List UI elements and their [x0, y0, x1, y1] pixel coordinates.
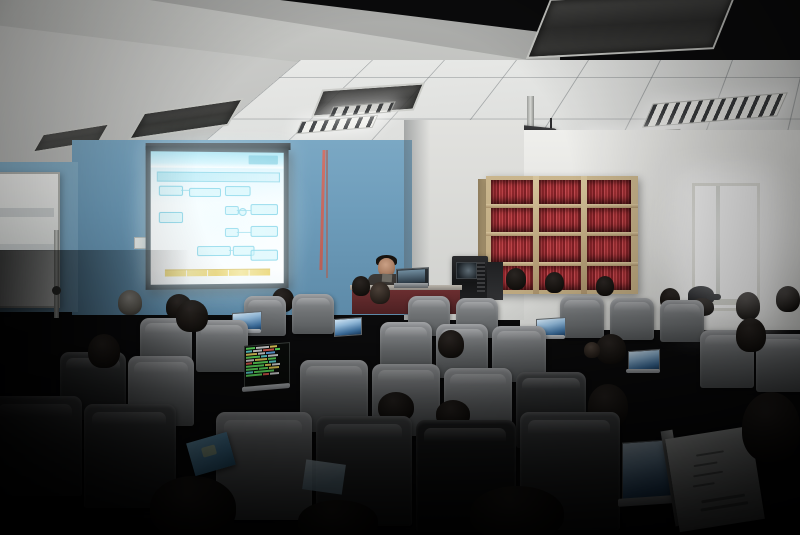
- bound-volumes: [491, 236, 533, 262]
- attendee-head: [545, 272, 564, 293]
- slide-box: [189, 188, 221, 197]
- attendee-head: [176, 300, 208, 332]
- shelf-upright: [581, 176, 587, 294]
- slide-connector: [229, 250, 234, 251]
- seat-headrest-band: [324, 424, 402, 438]
- whiteboard: [0, 172, 60, 308]
- attendee-head-foreground: [150, 476, 236, 535]
- bound-volumes: [491, 180, 533, 204]
- slide-footer-divider: [207, 270, 208, 276]
- seat[interactable]: [292, 294, 334, 334]
- slide-box: [225, 186, 251, 196]
- attendee-head: [370, 282, 390, 304]
- seat-headrest-band: [378, 370, 434, 381]
- seat-headrest-band: [248, 300, 282, 308]
- shelf-cell: [539, 180, 581, 204]
- pc-tower-icon: [487, 262, 503, 300]
- attendee-head-foreground: [470, 486, 564, 535]
- shelf-upright: [533, 176, 539, 294]
- handout-text-line: [696, 450, 724, 456]
- bound-volumes: [587, 236, 631, 262]
- slide-connector: [237, 232, 251, 233]
- bound-volumes: [587, 208, 631, 232]
- shelf-cell: [587, 236, 631, 262]
- shelf-board: [486, 204, 638, 208]
- seat-headrest-band: [296, 298, 330, 306]
- red-cable-shadow: [326, 150, 328, 278]
- shelf-cell: [539, 208, 581, 232]
- whiteboard-stand-knob: [52, 286, 61, 295]
- air-vent-icon: [526, 0, 738, 59]
- slide-box: [159, 212, 183, 223]
- seat-headrest-band: [306, 366, 362, 377]
- shelf-cell: [587, 180, 631, 204]
- attendee-head: [736, 318, 766, 352]
- bound-volumes: [539, 208, 581, 232]
- seat-headrest-band: [92, 412, 166, 425]
- presenter-collar: [382, 274, 393, 283]
- bound-volumes: [539, 236, 581, 262]
- slide-box: [197, 246, 231, 256]
- shelf-cell: [587, 208, 631, 232]
- slide-footer-divider: [186, 270, 187, 276]
- slide-connector: [237, 210, 251, 211]
- shelf-cell: [491, 236, 533, 262]
- attendee-head-foreground: [742, 392, 800, 462]
- conference-room-photo: [0, 0, 800, 535]
- presenter-laptop-base: [394, 283, 428, 288]
- whiteboard-stand-pole: [54, 230, 59, 318]
- attendee-head: [736, 292, 760, 320]
- seat-headrest-band: [497, 331, 541, 341]
- attendee-face: [584, 342, 600, 358]
- attendee-head: [438, 330, 464, 358]
- av-monitor-icon: [456, 262, 477, 279]
- projected-slide: [151, 151, 284, 285]
- shelf-board: [486, 262, 638, 266]
- shelf-cell: [491, 180, 533, 204]
- seat-headrest-band: [564, 300, 600, 309]
- seat-headrest-band: [412, 300, 446, 308]
- handout-text-line: [700, 501, 748, 511]
- seat-headrest-band: [460, 302, 494, 310]
- attendee-head: [88, 334, 120, 368]
- slide-logo: [249, 155, 278, 164]
- seat[interactable]: [610, 298, 654, 340]
- whiteboard-smudge: [0, 208, 54, 217]
- slide-footer-divider: [228, 270, 229, 276]
- seat-headrest-band: [664, 304, 700, 313]
- laptop-base: [626, 369, 660, 373]
- attendee-head: [118, 290, 142, 315]
- seat[interactable]: [560, 296, 604, 338]
- bound-volumes: [539, 180, 581, 204]
- seat-headrest-band: [385, 327, 427, 337]
- seat-headrest-band: [224, 420, 302, 434]
- slide-footer-band: [165, 269, 270, 277]
- shelf-cell: [539, 236, 581, 262]
- seat-headrest-band: [522, 378, 580, 389]
- seat-headrest-band: [0, 404, 72, 417]
- slide-footer-divider: [249, 270, 250, 276]
- attendee-head: [596, 276, 614, 296]
- slide-box: [251, 226, 278, 237]
- attendee-head: [506, 268, 526, 290]
- seat-headrest-band: [424, 428, 506, 442]
- whiteboard-smudge: [0, 244, 54, 251]
- seat-headrest-band: [528, 420, 610, 434]
- handout-text-line: [693, 471, 723, 478]
- window-mullion: [716, 186, 720, 302]
- seat-headrest-band: [201, 325, 243, 335]
- seat-headrest-band: [614, 302, 650, 311]
- seat[interactable]: [0, 396, 82, 496]
- seat-headrest-band: [134, 362, 188, 373]
- seat-headrest-band: [450, 374, 506, 385]
- attendee-head: [352, 276, 370, 296]
- seat[interactable]: [660, 300, 704, 342]
- seat-headrest-band: [761, 339, 800, 349]
- attendee-head-foreground: [298, 500, 378, 535]
- bound-volumes: [587, 180, 631, 204]
- handout-text-line: [694, 461, 718, 467]
- conference-booklet[interactable]: [302, 459, 346, 494]
- presenter-laptop-screen-glow: [398, 269, 425, 283]
- slide-title-bar: [157, 172, 280, 183]
- slide-connector: [181, 190, 190, 191]
- laptop-lit-screen[interactable]: [334, 317, 362, 337]
- shelf-board: [486, 232, 638, 236]
- shelf-cell: [491, 208, 533, 232]
- handout-text-line: [693, 482, 715, 487]
- slide-box: [251, 204, 278, 215]
- slide-box: [251, 250, 278, 261]
- slide-box: [159, 186, 183, 196]
- bound-volumes: [491, 208, 533, 232]
- av-rack-slots: [477, 262, 485, 292]
- attendee-head: [596, 334, 626, 364]
- attendee-head: [776, 286, 800, 312]
